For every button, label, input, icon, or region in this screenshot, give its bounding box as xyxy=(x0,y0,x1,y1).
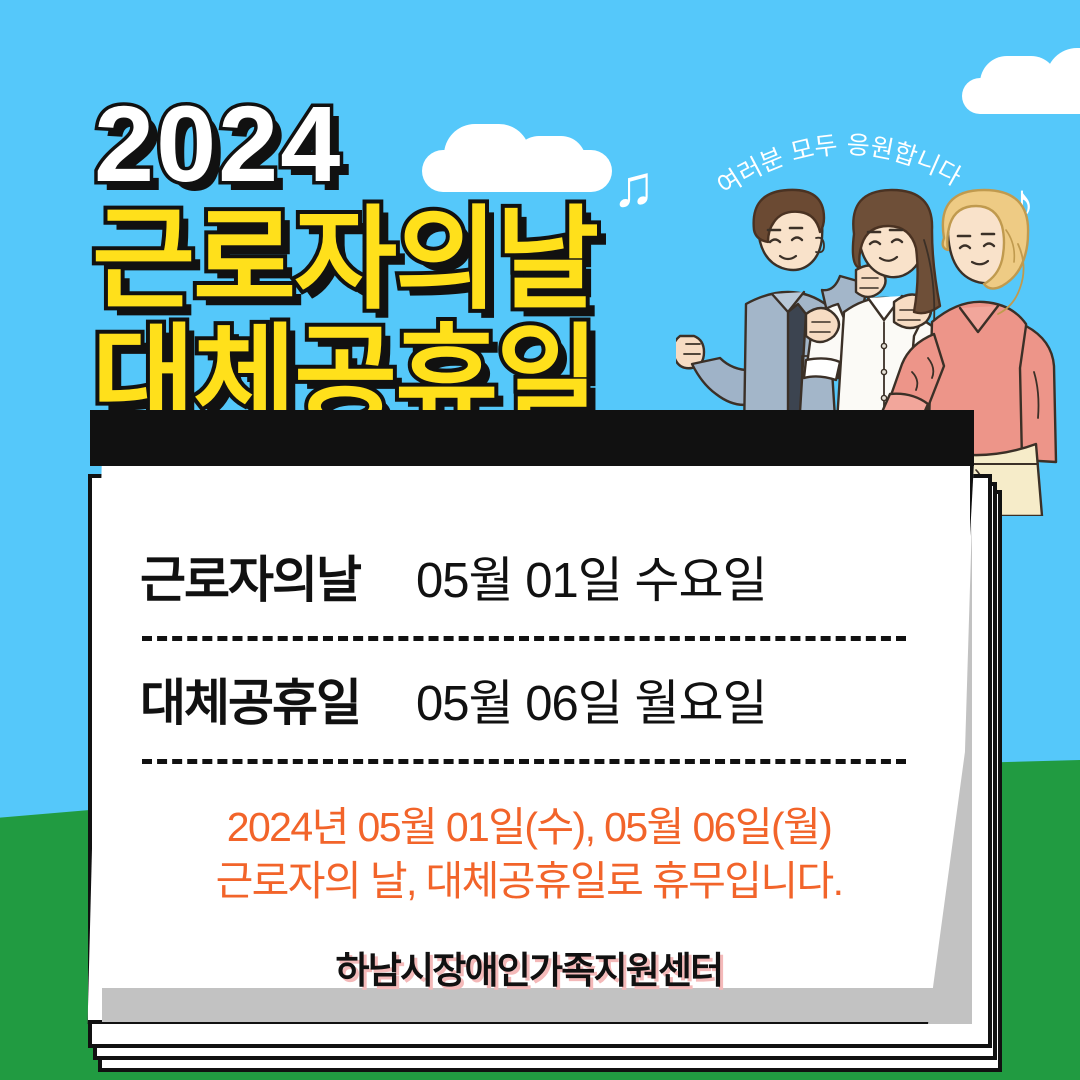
organization-name: 하남시장애인가족지원센터 xyxy=(84,940,974,994)
notice-line-1: 2024년 05월 01일(수), 05월 06일(월) xyxy=(84,800,974,854)
notice-message: 2024년 05월 01일(수), 05월 06일(월) 근로자의 날, 대체공… xyxy=(84,800,974,908)
notice-card-stack: 근로자의날 05월 01일 수요일 대체공휴일 05월 06일 월요일 2024… xyxy=(84,462,1000,1062)
year-heading: 2024 xyxy=(94,92,792,196)
row-value: 05월 06일 월요일 xyxy=(416,664,767,735)
row-divider xyxy=(142,636,906,641)
notice-line-2: 근로자의 날, 대체공휴일로 휴무입니다. xyxy=(84,854,974,908)
table-row: 근로자의날 05월 01일 수요일 xyxy=(140,540,908,616)
headline-block: 2024 근로자의날 대체공휴일 xyxy=(92,92,792,439)
row-divider xyxy=(142,759,906,764)
cloud-icon xyxy=(962,78,1080,114)
card-header-bar xyxy=(90,410,974,466)
poster-canvas: ♫ ♪ 여러분 모두 응원합니다 xyxy=(0,0,1080,1080)
row-label: 대체공휴일 xyxy=(140,663,416,735)
table-row: 대체공휴일 05월 06일 월요일 xyxy=(140,663,908,739)
paper-sheet-front: 근로자의날 05월 01일 수요일 대체공휴일 05월 06일 월요일 2024… xyxy=(84,462,974,1024)
row-label: 근로자의날 xyxy=(140,540,416,612)
title-line-1: 근로자의날 xyxy=(92,202,792,318)
row-value: 05월 01일 수요일 xyxy=(416,541,767,612)
card-content: 근로자의날 05월 01일 수요일 대체공휴일 05월 06일 월요일 2024… xyxy=(84,462,974,1024)
schedule-table: 근로자의날 05월 01일 수요일 대체공휴일 05월 06일 월요일 xyxy=(140,540,908,786)
